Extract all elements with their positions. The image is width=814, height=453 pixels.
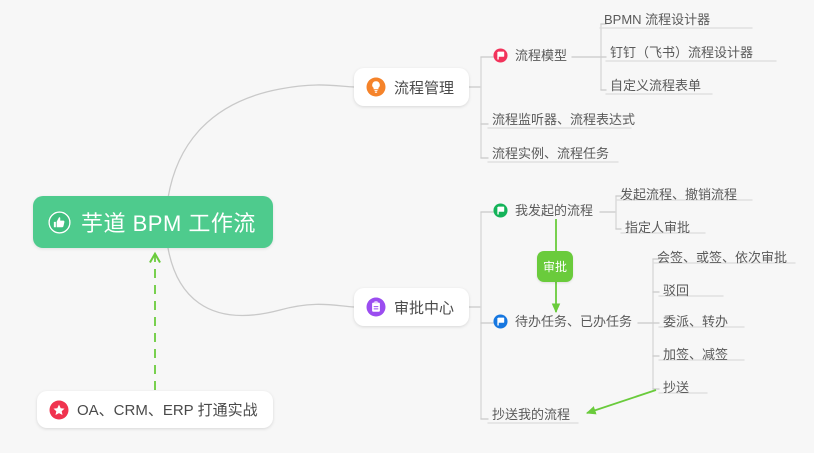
- node-delegate-transfer-label: 委派、转办: [663, 314, 728, 329]
- connector-root-to-process-management: [168, 85, 354, 198]
- node-process-listener-expression-label: 流程监听器、流程表达式: [492, 112, 635, 127]
- approval-chip-label: 审批: [543, 258, 567, 275]
- node-cc-label: 抄送: [663, 380, 689, 395]
- node-custom-process-form-label: 自定义流程表单: [610, 78, 701, 93]
- node-dingtalk-feishu-designer[interactable]: 钉钉（飞书）流程设计器: [610, 45, 753, 63]
- node-todo-done-tasks-label: 待办任务、已办任务: [515, 314, 632, 329]
- node-process-model[interactable]: 流程模型: [493, 48, 567, 66]
- clipboard-icon: [366, 297, 386, 317]
- node-add-remove-sign-label: 加签、减签: [663, 347, 728, 362]
- node-process-management[interactable]: 流程管理: [354, 68, 469, 106]
- node-integration-callout[interactable]: OA、CRM、ERP 打通实战: [37, 391, 273, 428]
- node-process-instance-task-label: 流程实例、流程任务: [492, 146, 609, 161]
- node-my-initiated-processes[interactable]: 我发起的流程: [493, 203, 593, 221]
- flag-icon: [493, 203, 508, 218]
- node-delegate-transfer[interactable]: 委派、转办: [663, 314, 728, 332]
- lightbulb-icon: [366, 77, 386, 97]
- node-integration-callout-label: OA、CRM、ERP 打通实战: [77, 399, 258, 420]
- node-start-cancel-process[interactable]: 发起流程、撤销流程: [620, 187, 737, 205]
- node-approval-center[interactable]: 审批中心: [354, 288, 469, 326]
- node-process-management-label: 流程管理: [394, 77, 454, 98]
- mindmap-canvas: 芋道 BPM 工作流 流程管理 审批中心: [0, 0, 814, 453]
- approval-chip[interactable]: 审批: [537, 251, 573, 282]
- node-cc-to-me-processes[interactable]: 抄送我的流程: [492, 407, 570, 425]
- node-approval-center-label: 审批中心: [394, 297, 454, 318]
- node-custom-process-form[interactable]: 自定义流程表单: [610, 78, 701, 96]
- node-process-model-label: 流程模型: [515, 48, 567, 63]
- node-cc-to-me-processes-label: 抄送我的流程: [492, 407, 570, 422]
- node-process-instance-task[interactable]: 流程实例、流程任务: [492, 146, 609, 164]
- node-process-listener-expression[interactable]: 流程监听器、流程表达式: [492, 112, 635, 130]
- node-todo-done-tasks[interactable]: 待办任务、已办任务: [493, 314, 632, 332]
- node-countersign-orsign-sequential[interactable]: 会签、或签、依次审批: [657, 250, 787, 268]
- flag-icon: [493, 48, 508, 63]
- flag-icon: [493, 314, 508, 329]
- node-designated-approver-label: 指定人审批: [625, 220, 690, 235]
- node-add-remove-sign[interactable]: 加签、减签: [663, 347, 728, 365]
- node-reject[interactable]: 驳回: [663, 283, 689, 301]
- thumbs-up-icon: [47, 210, 72, 235]
- node-bpmn-designer-label: BPMN 流程设计器: [604, 12, 710, 27]
- node-designated-approver[interactable]: 指定人审批: [625, 220, 690, 238]
- node-cc[interactable]: 抄送: [663, 380, 689, 398]
- node-start-cancel-process-label: 发起流程、撤销流程: [620, 187, 737, 202]
- root-node[interactable]: 芋道 BPM 工作流: [33, 196, 273, 248]
- star-icon: [49, 400, 69, 420]
- node-bpmn-designer[interactable]: BPMN 流程设计器: [604, 12, 710, 30]
- arrow-cc-to-ccme: [587, 390, 656, 413]
- connector-root-to-approval-center: [168, 248, 354, 315]
- root-label: 芋道 BPM 工作流: [81, 206, 256, 238]
- node-countersign-orsign-sequential-label: 会签、或签、依次审批: [657, 250, 787, 265]
- node-reject-label: 驳回: [663, 283, 689, 298]
- node-dingtalk-feishu-designer-label: 钉钉（飞书）流程设计器: [610, 45, 753, 60]
- node-my-initiated-processes-label: 我发起的流程: [515, 203, 593, 218]
